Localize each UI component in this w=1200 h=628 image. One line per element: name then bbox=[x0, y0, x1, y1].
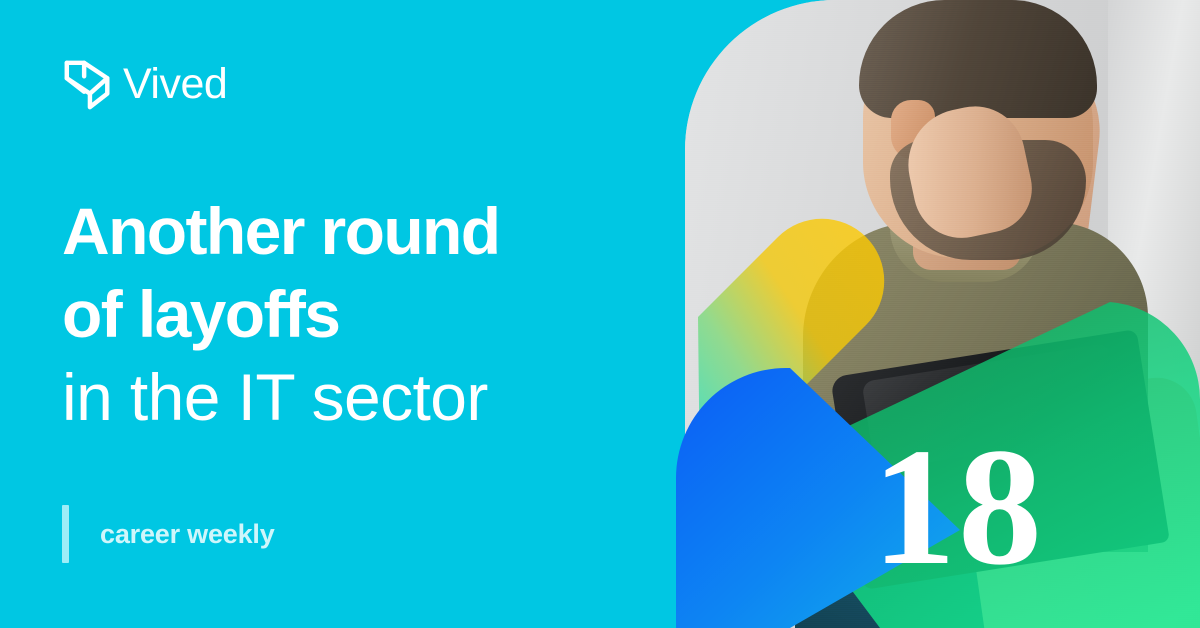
brand-name: Vived bbox=[123, 63, 227, 106]
headline-line-3: in the IT sector bbox=[62, 356, 682, 439]
issue-number: 18 bbox=[872, 432, 1044, 582]
vived-ribbon-mark-icon bbox=[62, 57, 114, 111]
text-column: Vived Another round of layoffs in the IT… bbox=[0, 0, 690, 628]
kicker: career weekly bbox=[62, 505, 275, 563]
headline: Another round of layoffs in the IT secto… bbox=[62, 190, 682, 439]
kicker-label: career weekly bbox=[100, 521, 275, 548]
kicker-accent-bar bbox=[62, 505, 69, 563]
newsletter-banner: 18 Vived Another round of layoffs in the… bbox=[0, 0, 1200, 628]
headline-line-1: Another round bbox=[62, 190, 682, 273]
headline-line-2: of layoffs bbox=[62, 273, 682, 356]
brand-lockup[interactable]: Vived bbox=[62, 57, 227, 111]
